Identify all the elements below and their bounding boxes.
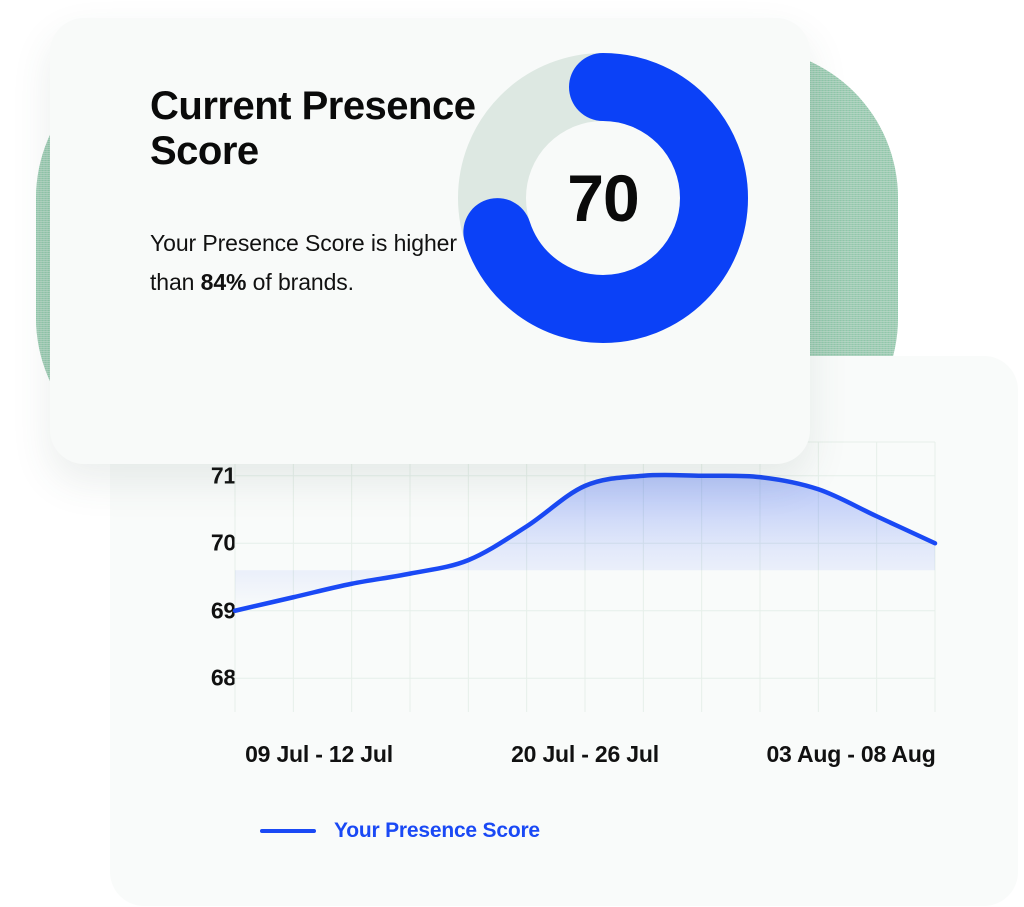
x-axis-tick-label: 09 Jul - 12 Jul — [245, 741, 393, 768]
x-axis-tick-label: 20 Jul - 26 Jul — [511, 741, 659, 768]
y-axis-tick-label: 69 — [211, 597, 236, 624]
y-axis-tick-label: 71 — [211, 462, 236, 489]
score-text-block: Current Presence Score Your Presence Sco… — [150, 84, 480, 302]
plot-area — [235, 442, 935, 712]
chart-legend[interactable]: Your Presence Score — [260, 819, 540, 843]
legend-label: Your Presence Score — [334, 819, 540, 843]
donut-score-value: 70 — [458, 165, 748, 231]
x-axis-tick-label: 03 Aug - 08 Aug — [766, 741, 935, 768]
score-description-post: of brands. — [246, 269, 354, 295]
y-axis-tick-label: 68 — [211, 665, 236, 692]
legend-line-icon — [260, 829, 316, 833]
y-axis-tick-label: 70 — [211, 530, 236, 557]
current-presence-score-card: Current Presence Score Your Presence Sco… — [50, 18, 810, 464]
score-description: Your Presence Score is higher than 84% o… — [150, 174, 480, 302]
score-percentile-value: 84% — [201, 269, 247, 295]
chart-svg — [235, 442, 935, 712]
page-title: Current Presence Score — [150, 84, 480, 174]
presence-score-donut: 70 — [458, 53, 748, 343]
x-axis-labels: 09 Jul - 12 Jul20 Jul - 26 Jul03 Aug - 0… — [235, 741, 935, 773]
screenshot-root: 71706968 — [0, 0, 1024, 907]
